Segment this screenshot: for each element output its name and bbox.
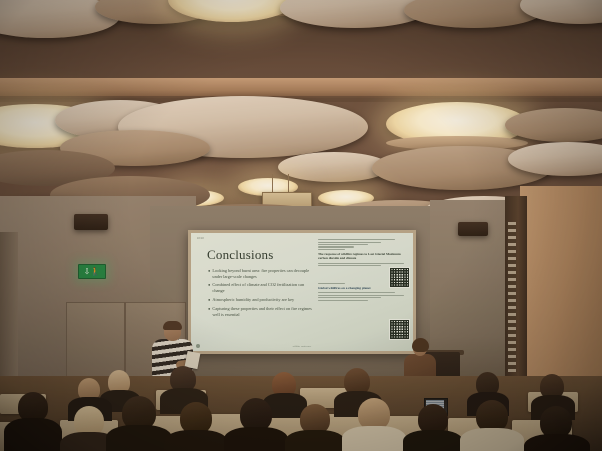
ref-rule [318,249,345,250]
audience-shoulders [524,434,590,451]
bullet-text: Looking beyond burnt area: fire properti… [212,268,313,279]
audience-shoulders [403,430,463,451]
ceiling-beam-mid [0,78,602,98]
bullet-text: Atmospheric humidity and productivity ar… [212,297,294,303]
slide-tag: 10/10 [197,237,204,240]
ref-rule [318,263,404,264]
bullet-dot-icon: ● [208,306,210,317]
audience-shoulders [285,430,345,451]
bullet-text: Capturing these properties and their eff… [212,306,313,317]
slide-bullet: ● Atmospheric humidity and productivity … [208,297,313,303]
audience-shoulders [106,425,172,451]
bullet-dot-icon: ● [208,282,210,293]
wall-speaker [458,222,488,236]
projection-screen: 10/10 Conclusions ● Looking beyond burnt… [191,233,413,351]
slide-logo [196,344,200,348]
far-right-wall [520,186,602,396]
acoustic-panel [520,0,602,24]
exit-sign-glyph: ⇩🚶 [84,268,101,276]
audience-shoulders [460,428,524,451]
projector-mount [272,174,273,192]
ref-rule [318,244,368,245]
slide-bullet-list: ● Looking beyond burnt area: fire proper… [208,268,313,320]
bullet-dot-icon: ● [208,297,210,303]
slide-bullet: ● Combined effect of climate and CO2 fer… [208,282,313,293]
slide-bullet: ● Capturing these properties and their e… [208,306,313,317]
lecture-hall-photo: ⇩🚶 10/10 Conclusions ● Looking beyond bu… [0,0,602,451]
ref-rule [318,295,404,296]
projection-screen-frame: 10/10 Conclusions ● Looking beyond burnt… [188,230,416,354]
slide-footer: wildfire conference [293,345,312,348]
audience-shoulders [342,426,406,451]
audience-shoulders [164,430,228,451]
bullet-text: Combined effect of climate and CO2 ferti… [212,282,313,293]
audience-shoulders [4,418,62,451]
ref-rule [318,265,381,266]
projector-mount [288,174,289,192]
host-hair [412,338,429,352]
qr-code-paper-2 [389,319,410,340]
acoustic-panel [505,108,602,142]
slide-title: Conclusions [207,247,273,263]
ref-rule [318,292,395,293]
reference-title: The response of wildfire regimes to Last… [318,252,408,261]
qr-code-paper-1 [389,267,410,288]
exit-sign: ⇩🚶 [78,264,106,279]
ref-rule [318,300,368,301]
presenter-hair [163,321,182,330]
wall-speaker [74,214,108,230]
slide-bullet: ● Looking beyond burnt area: fire proper… [208,268,313,279]
window-light-strip [508,222,516,372]
ref-rule [318,239,395,240]
ref-rule [318,297,381,298]
audience-shoulders [224,427,288,451]
ref-rule [318,283,345,284]
ref-rule [318,246,354,247]
left-wall-edge [0,232,18,382]
bullet-dot-icon: ● [208,268,210,279]
ref-rule [318,242,381,243]
